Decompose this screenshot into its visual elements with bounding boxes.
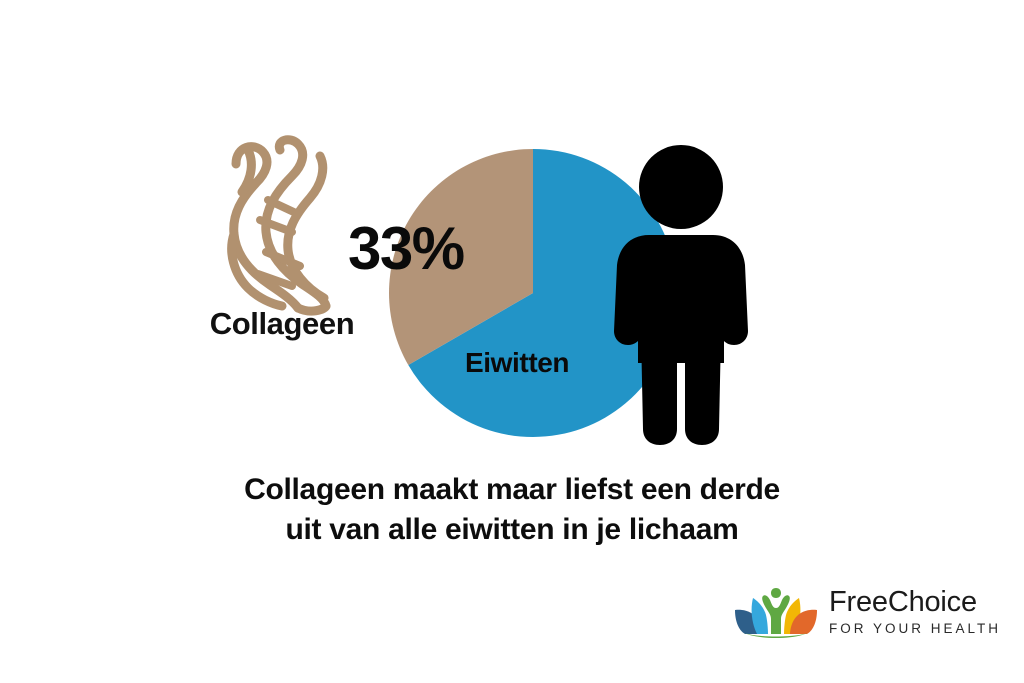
caption-line-1: Collageen maakt maar liefst een derde [112,470,912,510]
percentage-label: 33% [348,219,464,279]
collagen-label: Collageen [192,308,372,341]
protein-label: Eiwitten [465,349,569,377]
lotus-person-logo-icon [733,584,819,640]
person-silhouette-icon [605,143,757,448]
dna-helix-icon [214,128,346,318]
logo-text-block: FreeChoice FOR YOUR HEALTH [829,588,1001,636]
logo-tagline: FOR YOUR HEALTH [829,622,1001,636]
caption-line-2: uit van alle eiwitten in je lichaam [112,510,912,550]
caption: Collageen maakt maar liefst een derde ui… [112,470,912,550]
infographic-canvas: Collageen 33% Eiwitten [0,0,1024,683]
logo-name: FreeChoice [829,588,1001,617]
brand-logo: FreeChoice FOR YOUR HEALTH [733,581,985,643]
